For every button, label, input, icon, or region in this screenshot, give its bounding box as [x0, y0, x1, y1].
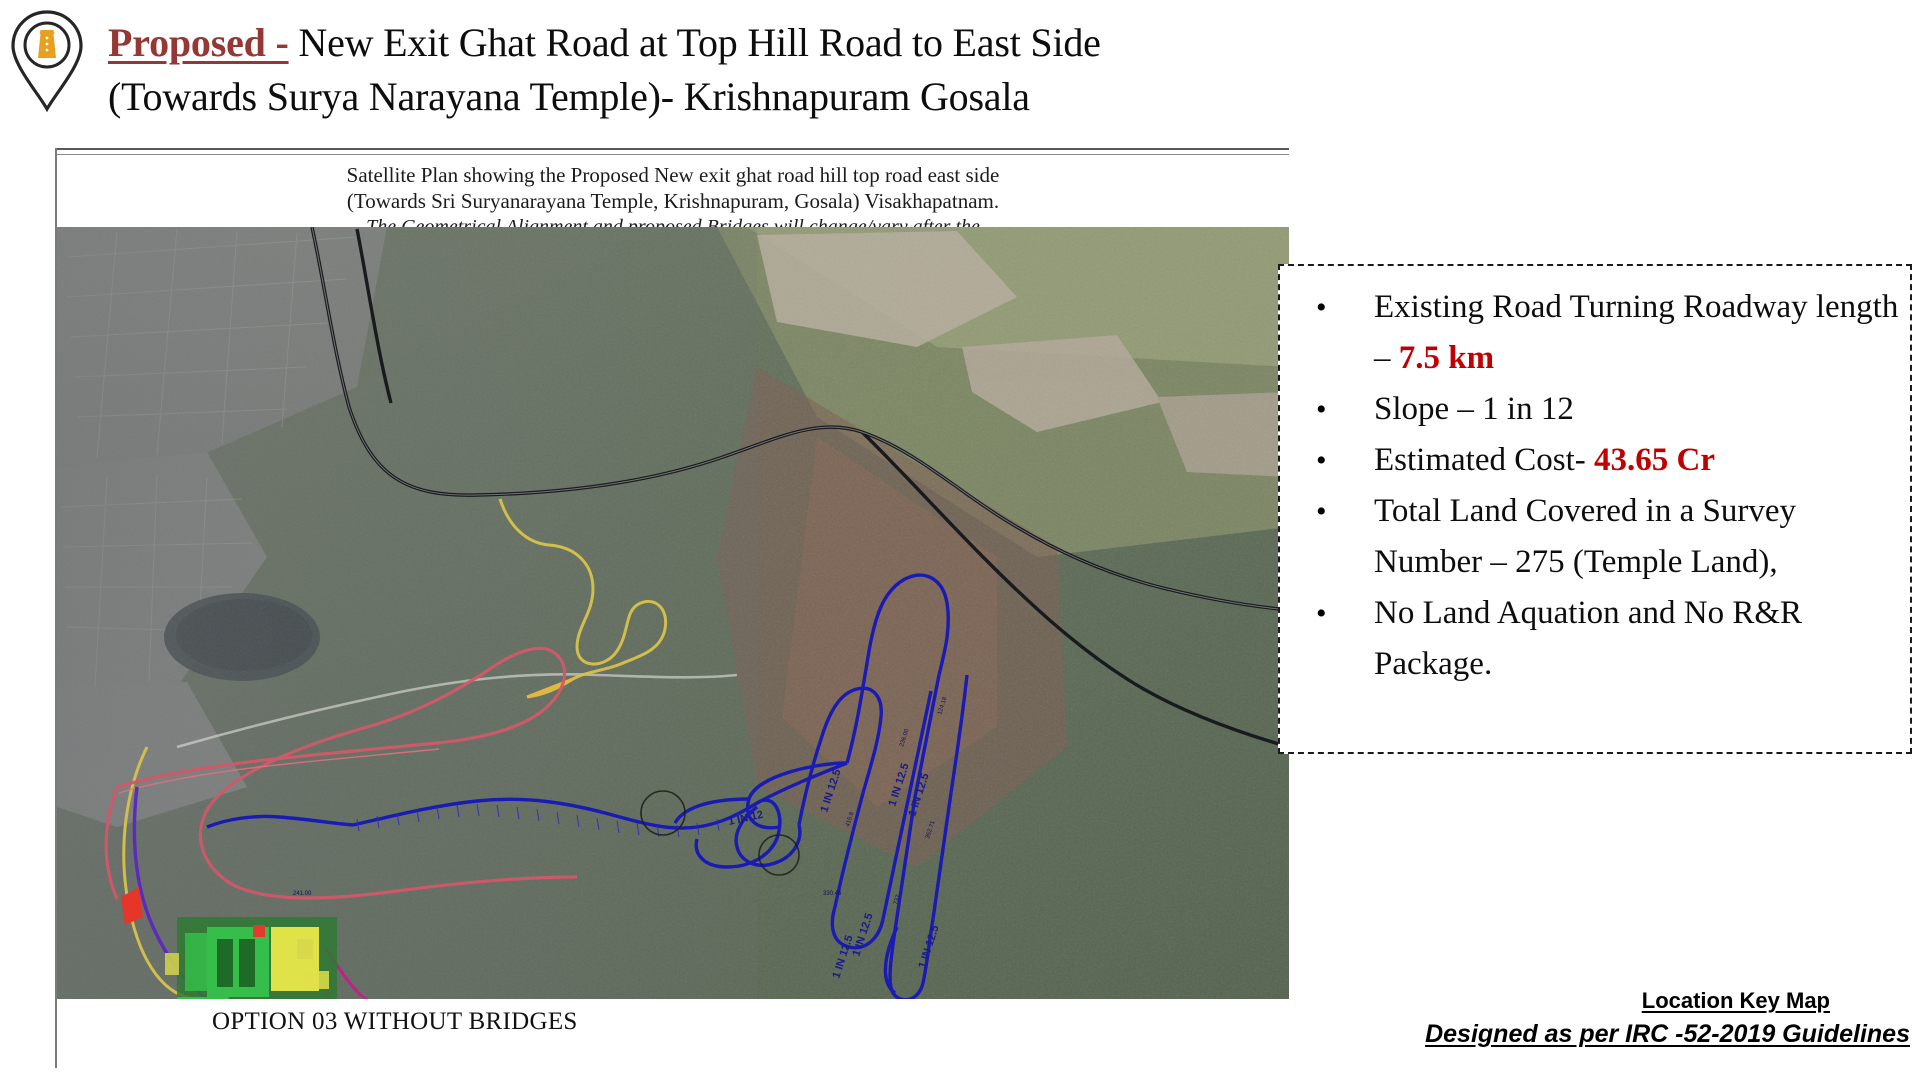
list-item: Existing Road Turning Roadway length – 7… — [1292, 282, 1900, 384]
bullet-accent-0: 7.5 km — [1399, 340, 1494, 376]
sheet-divider-top-thin — [57, 154, 1289, 155]
footer-captions: Location Key Map Designed as per IRC -52… — [1278, 988, 1918, 1049]
title-line-1: Proposed - New Exit Ghat Road at Top Hil… — [108, 16, 1388, 70]
bullet-text-1: Slope – 1 in 12 — [1374, 391, 1574, 427]
irc-guidelines-label: Designed as per IRC -52-2019 Guidelines — [1278, 1020, 1910, 1049]
key-facts-list: Existing Road Turning Roadway length – 7… — [1292, 282, 1900, 690]
list-item: Total Land Covered in a Survey Number – … — [1292, 486, 1900, 588]
list-item: No Land Aquation and No R&R Package. — [1292, 588, 1900, 690]
satellite-map-image: 1 IN 12 1 IN 12.5 1 IN 12.5 1 IN 12.5 1 … — [57, 227, 1289, 999]
location-pin-temple-icon — [8, 8, 86, 113]
plan-caption-line-2: (Towards Sri Suryanarayana Temple, Krish… — [57, 188, 1289, 214]
option-label: OPTION 03 WITHOUT BRIDGES — [57, 1008, 1289, 1036]
key-facts-box: Existing Road Turning Roadway length – 7… — [1278, 264, 1912, 754]
title-line-1-rest: New Exit Ghat Road at Top Hill Road to E… — [289, 20, 1101, 65]
title-proposed-label: Proposed - — [108, 20, 289, 65]
sheet-divider-top — [57, 148, 1289, 150]
list-item: Estimated Cost- 43.65 Cr — [1292, 435, 1900, 486]
svg-text:241.00: 241.00 — [293, 891, 312, 897]
bullet-text-2: Estimated Cost- — [1374, 442, 1594, 478]
plan-caption-line-1: Satellite Plan showing the Proposed New … — [57, 162, 1289, 188]
location-key-map-label: Location Key Map — [1278, 988, 1830, 1014]
page-title: Proposed - New Exit Ghat Road at Top Hil… — [108, 16, 1388, 124]
slide-header: Proposed - New Exit Ghat Road at Top Hil… — [0, 0, 1400, 140]
list-item: Slope – 1 in 12 — [1292, 384, 1900, 435]
slide-page: Proposed - New Exit Ghat Road at Top Hil… — [0, 0, 1919, 1079]
bullet-text-3: Total Land Covered in a Survey Number – … — [1374, 493, 1796, 580]
title-line-2: (Towards Surya Narayana Temple)- Krishna… — [108, 70, 1388, 124]
satellite-plan-sheet: Satellite Plan showing the Proposed New … — [55, 148, 1287, 1068]
svg-text:330.46: 330.46 — [823, 891, 842, 897]
bullet-text-4: No Land Aquation and No R&R Package. — [1374, 595, 1802, 682]
bullet-accent-2: 43.65 Cr — [1594, 442, 1715, 478]
